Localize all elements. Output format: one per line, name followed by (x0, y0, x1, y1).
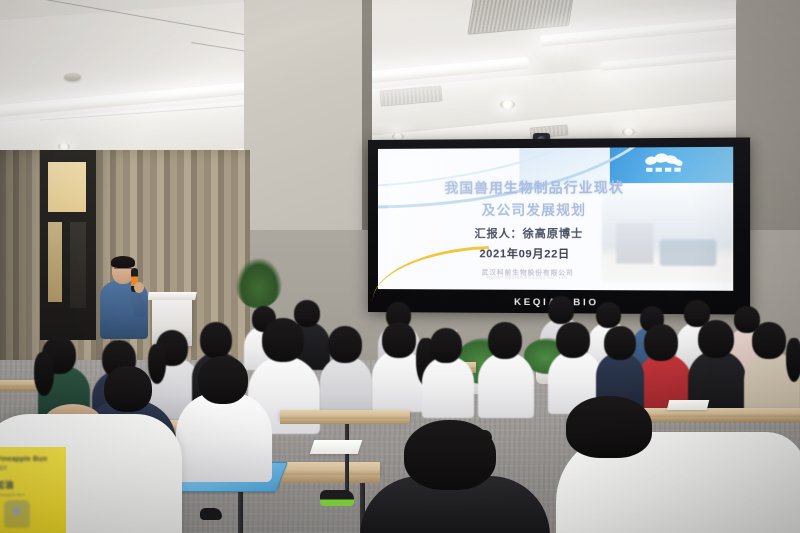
presenter-hand (134, 282, 144, 293)
tshirt-print-line2: HOT (0, 466, 62, 472)
marble-wall-panel (244, 0, 364, 230)
shoe (320, 490, 354, 506)
downlight-icon (622, 128, 635, 136)
projector-screen[interactable]: 我国兽用生物制品行业现状 及公司发展规划 汇报人：徐高原博士 2021年09月2… (368, 137, 750, 314)
presenter-hair (111, 256, 135, 268)
door-glass-pane (48, 222, 62, 302)
tshirt-print-graphic (4, 500, 30, 528)
shoe (200, 508, 222, 520)
podium-top-surface (147, 292, 197, 300)
tshirt-print-line1: Pineapple Bun (0, 456, 62, 463)
slide-company-name-en: WUHAN KEQIAN BIOLOGY CO., LTD. (378, 274, 681, 280)
door-glass-pane (70, 222, 86, 308)
slide-canvas: 我国兽用生物制品行业现状 及公司发展规划 汇报人：徐高原博士 2021年09月2… (378, 147, 733, 291)
downlight-icon (58, 143, 70, 150)
potted-plant (236, 258, 282, 308)
presenter-eyeglasses-icon (114, 268, 132, 273)
smoke-detector-icon (64, 73, 81, 81)
tshirt-print-line4: Pineapple Bun (0, 492, 62, 497)
slide-text-block: 我国兽用生物制品行业现状 及公司发展规划 汇报人：徐高原博士 2021年09月2… (378, 147, 733, 291)
downlight-icon (500, 100, 515, 109)
desk-surface (630, 408, 800, 417)
lecture-room-photo: 我国兽用生物制品行业现状 及公司发展规划 汇报人：徐高原博士 2021年09月2… (0, 0, 800, 533)
desk-surface (280, 410, 410, 419)
ceiling (0, 0, 800, 160)
paper-notes (667, 400, 709, 410)
slide-title-line2: 及公司发展规划 (378, 198, 693, 219)
desk-edge (630, 417, 800, 422)
door-glass-pane (48, 162, 86, 212)
slide-date-line: 2021年09月22日 (378, 245, 674, 262)
slide-title-line1: 我国兽用生物制品行业现状 (378, 176, 693, 197)
slide-presenter-line: 汇报人：徐高原博士 (378, 225, 683, 241)
foreground-right-head (566, 396, 652, 458)
paper-notes (310, 440, 363, 454)
tshirt-print-line3: 加油 (0, 478, 63, 491)
foreground-person-head (404, 420, 496, 490)
